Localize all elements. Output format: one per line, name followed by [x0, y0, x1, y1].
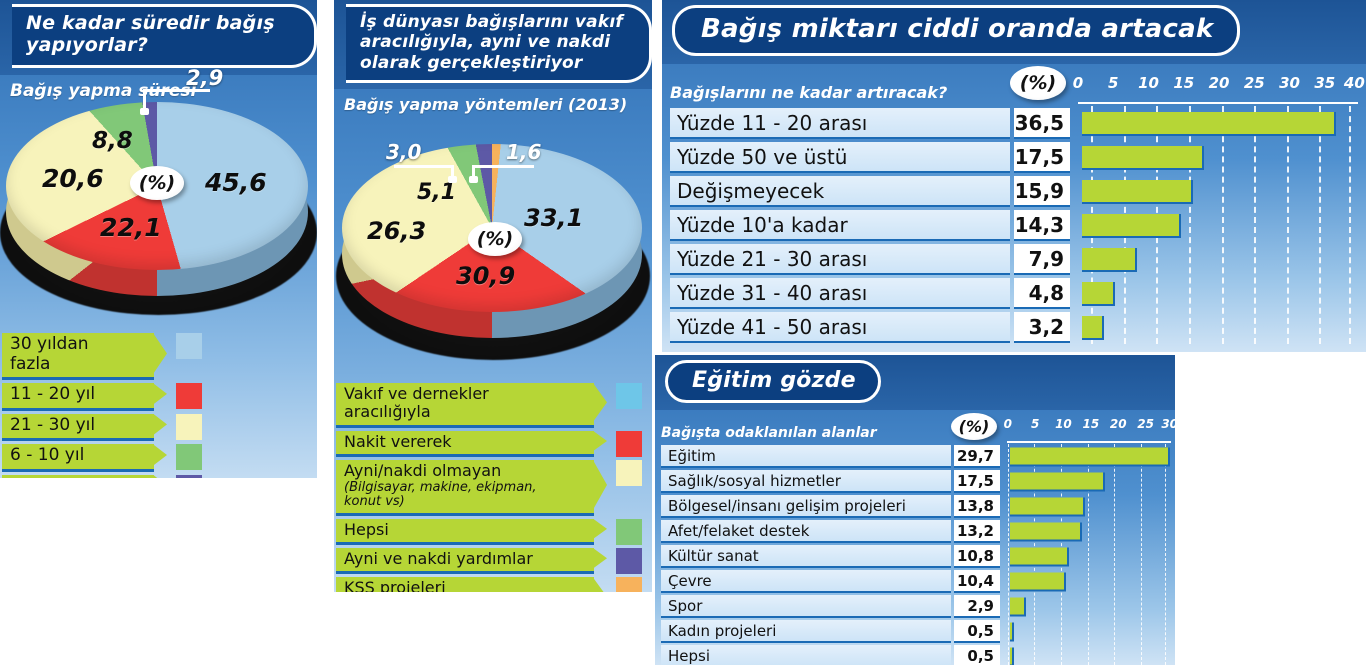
row-bar-cell: [1010, 495, 1173, 518]
row-label: Hepsi: [661, 645, 951, 665]
legend-label: KSS projeleri gerçekleştirerek: [336, 577, 594, 592]
row-label: Yüzde 21 - 30 arası: [670, 244, 1010, 275]
bar: [1082, 180, 1193, 204]
axis-tick: 30: [1161, 417, 1175, 431]
row-bar-cell: [1010, 445, 1173, 468]
panel4-title: Eğitim gözde: [665, 360, 881, 403]
bar: [1010, 597, 1026, 616]
pie1-label-0: 45,6: [205, 168, 267, 197]
pie1-label-3: 8,8: [92, 128, 133, 154]
row-label: Spor: [661, 595, 951, 618]
axis-tick: 10: [1055, 417, 1072, 431]
row-label: Çevre: [661, 570, 951, 593]
row-value: 36,5: [1014, 108, 1070, 139]
row-value: 17,5: [954, 470, 1000, 493]
row-label: Bölgesel/insanı gelişim projeleri: [661, 495, 951, 518]
row-bar-cell: [1010, 645, 1173, 665]
pie2-percent-badge: (%): [468, 222, 522, 256]
panel1-header-bar: Ne kadar süredir bağış yapıyorlar?: [0, 0, 317, 75]
legend-item[interactable]: 21 - 30 yıl: [2, 414, 317, 442]
legend-label: 11 - 20 yıl: [2, 383, 154, 411]
legend-item[interactable]: Nakit vererek: [336, 431, 652, 457]
panel-focus-areas: Eğitim gözde Bağışta odaklanılan alanlar…: [655, 355, 1175, 665]
table-row[interactable]: Eğitim 29,7: [661, 445, 1173, 468]
panel3-table-header: Bağışlarını ne kadar artıracak? (%) 0 5 …: [670, 66, 1360, 106]
table-row[interactable]: Çevre 10,4: [661, 570, 1173, 593]
panel4-table-header: Bağışta odaklanılan alanlar (%) 0 5 10 1…: [661, 412, 1173, 444]
legend-sublabel: (Bilgisayar, makine, ekipman, konut vs): [344, 481, 572, 510]
row-label: Kültür sanat: [661, 545, 951, 568]
legend-label: Ayni/nakdi olmayan: [344, 461, 501, 480]
legend-item[interactable]: 11 - 20 yıl: [2, 383, 317, 411]
axis-tick: 25: [1137, 417, 1154, 431]
panel2-header-bar: İş dünyası bağışlarını vakıf aracılığıyl…: [334, 0, 652, 89]
axis-tick: 0: [1004, 417, 1012, 431]
table-row[interactable]: Yüzde 31 - 40 arası 4,8: [670, 278, 1360, 309]
panel3-question-label: Bağışlarını ne kadar artıracak?: [670, 83, 1010, 106]
table-row[interactable]: Bölgesel/insanı gelişim projeleri 13,8: [661, 495, 1173, 518]
axis-tick: 35: [1314, 74, 1335, 92]
legend-label: 6 - 10 yıl: [2, 444, 154, 472]
legend-swatch: [176, 414, 202, 440]
legend-swatch: [616, 383, 642, 409]
axis-tick: 25: [1244, 74, 1265, 92]
legend-item[interactable]: 30 yıldan fazla: [2, 333, 317, 380]
pie1-leader-line-v: [143, 89, 146, 110]
row-bar-cell: [1010, 620, 1173, 643]
panel-donation-increase: Bağış miktarı ciddi oranda artacak Bağış…: [662, 0, 1366, 352]
row-value: 15,9: [1014, 176, 1070, 207]
row-value: 10,4: [954, 570, 1000, 593]
panel3-title: Bağış miktarı ciddi oranda artacak: [672, 5, 1240, 56]
row-value: 13,8: [954, 495, 1000, 518]
row-bar-cell: [1082, 312, 1360, 343]
axis-tick: 15: [1082, 417, 1099, 431]
pie1-leader-line-h: [143, 89, 210, 92]
axis-baseline: [1007, 441, 1171, 443]
panel4-axis: 0 5 10 15 20 25 30: [1007, 417, 1173, 444]
row-bar-cell: [1010, 520, 1173, 543]
row-label: Yüzde 31 - 40 arası: [670, 278, 1010, 309]
panel4-header-bar: Eğitim gözde: [655, 355, 1175, 410]
axis-tick: 0: [1073, 74, 1083, 92]
panel-donation-duration: Ne kadar süredir bağış yapıyorlar? Bağış…: [0, 0, 317, 478]
panel2-title: İş dünyası bağışlarını vakıf aracılığıyl…: [346, 4, 652, 83]
pie2-leader-5-dot: [469, 176, 478, 183]
bar: [1010, 622, 1014, 641]
legend-label: Hepsi: [336, 519, 594, 545]
infographic-root: Ne kadar süredir bağış yapıyorlar? Bağış…: [0, 0, 1366, 665]
axis-tick: 15: [1173, 74, 1194, 92]
table-row[interactable]: Spor 2,9: [661, 595, 1173, 618]
legend-label: 2 - 5 yıl: [2, 475, 154, 478]
legend-swatch: [616, 431, 642, 457]
pie2-leader-5-h: [472, 165, 534, 168]
bar: [1010, 472, 1105, 491]
panel4-percent-badge: (%): [951, 413, 997, 440]
row-bar-cell: [1010, 545, 1173, 568]
row-bar-cell: [1082, 210, 1360, 241]
pie2-leader-3-dot: [448, 176, 457, 183]
axis-tick: 20: [1110, 417, 1127, 431]
legend-swatch: [616, 548, 642, 574]
row-bar-cell: [1082, 142, 1360, 173]
row-label: Değişmeyecek: [670, 176, 1010, 207]
row-value: 2,9: [954, 595, 1000, 618]
bar: [1082, 248, 1137, 272]
pie1-label-4: 2,9: [186, 66, 223, 90]
bar: [1010, 572, 1066, 591]
axis-tick: 40: [1344, 74, 1365, 92]
pie2-label-0: 33,1: [524, 204, 583, 232]
row-bar-cell: [1010, 570, 1173, 593]
pie2-label-1: 30,9: [456, 262, 515, 290]
table-row[interactable]: Sağlık/sosyal hizmetler 17,5: [661, 470, 1173, 493]
table-row[interactable]: Değişmeyecek 15,9: [670, 176, 1360, 207]
legend-item[interactable]: Vakıf ve dernekler aracılığıyla: [336, 383, 652, 428]
row-label: Kadın projeleri: [661, 620, 951, 643]
table-row[interactable]: Yüzde 50 ve üstü 17,5: [670, 142, 1360, 173]
pie2-label-4: 3,0: [386, 140, 421, 164]
axis-tick: 5: [1108, 74, 1118, 92]
legend-label: 30 yıldan fazla: [2, 333, 154, 380]
legend-item[interactable]: Hepsi: [336, 519, 652, 545]
legend-swatch: [176, 444, 202, 470]
legend-swatch: [616, 577, 642, 592]
panel3-header-bar: Bağış miktarı ciddi oranda artacak: [662, 0, 1366, 64]
panel-donation-methods: İş dünyası bağışlarını vakıf aracılığıyl…: [334, 0, 652, 592]
axis-tick: 10: [1138, 74, 1159, 92]
legend-label: Vakıf ve dernekler aracılığıyla: [336, 383, 594, 428]
panel3-axis: 0 5 10 15 20 25 30 35 40: [1078, 72, 1360, 106]
row-bar-cell: [1082, 278, 1360, 309]
legend-swatch: [176, 383, 202, 409]
pie1-label-2: 20,6: [42, 164, 104, 193]
pie1-percent-badge: (%): [130, 166, 184, 200]
table-row[interactable]: Yüzde 10'a kadar 14,3: [670, 210, 1360, 241]
axis-tick: 20: [1209, 74, 1230, 92]
panel4-question-label: Bağışta odaklanılan alanlar: [661, 425, 951, 444]
axis-baseline: [1078, 102, 1358, 104]
pie2-label-3: 5,1: [417, 180, 456, 205]
legend-label-multiline: Ayni/nakdi olmayan (Bilgisayar, makine, …: [336, 460, 594, 515]
panel3-percent-badge: (%): [1010, 66, 1066, 100]
panel1-pie-chart: 45,6 22,1 20,6 8,8 2,9 (%): [0, 88, 317, 323]
bar: [1082, 282, 1115, 306]
panel2-subtitle: Bağış yapma yöntemleri (2013): [334, 89, 652, 116]
axis-tick: 30: [1279, 74, 1300, 92]
legend-item[interactable]: 2 - 5 yıl: [2, 475, 317, 478]
row-bar-cell: [1082, 108, 1360, 139]
panel1-title: Ne kadar süredir bağış yapıyorlar?: [12, 4, 317, 68]
legend-label: Ayni ve nakdi yardımlar: [336, 548, 594, 574]
row-value: 13,2: [954, 520, 1000, 543]
legend-item[interactable]: 6 - 10 yıl: [2, 444, 317, 472]
row-label: Sağlık/sosyal hizmetler: [661, 470, 951, 493]
row-value: 7,9: [1014, 244, 1070, 275]
row-label: Eğitim: [661, 445, 951, 468]
row-value: 0,5: [954, 645, 1000, 665]
table-row[interactable]: Kültür sanat 10,8: [661, 545, 1173, 568]
table-row[interactable]: Kadın projeleri 0,5: [661, 620, 1173, 643]
bar: [1010, 647, 1014, 665]
panel4-rows: Eğitim 29,7 Sağlık/sosyal hizmetler 17,5…: [661, 445, 1173, 665]
row-label: Yüzde 41 - 50 arası: [670, 312, 1010, 343]
bar: [1082, 214, 1181, 238]
panel2-pie-chart: 33,1 30,9 26,3 5,1 3,0 1,6 (%): [334, 132, 652, 372]
table-row[interactable]: Yüzde 41 - 50 arası 3,2: [670, 312, 1360, 343]
pie2-leader-3-h: [394, 165, 454, 168]
row-value: 29,7: [954, 445, 1000, 468]
bar: [1010, 547, 1069, 566]
legend-label: Nakit vererek: [336, 431, 594, 457]
table-row[interactable]: Yüzde 21 - 30 arası 7,9: [670, 244, 1360, 275]
legend-swatch: [176, 333, 202, 359]
legend-item[interactable]: KSS projeleri gerçekleştirerek: [336, 577, 652, 592]
axis-tick: 5: [1031, 417, 1039, 431]
legend-item[interactable]: Ayni/nakdi olmayan (Bilgisayar, makine, …: [336, 460, 652, 515]
table-row[interactable]: Hepsi 0,5: [661, 645, 1173, 665]
table-row[interactable]: Yüzde 11 - 20 arası 36,5: [670, 108, 1360, 139]
panel3-rows: Yüzde 11 - 20 arası 36,5 Yüzde 50 ve üst…: [670, 108, 1360, 346]
row-value: 17,5: [1014, 142, 1070, 173]
legend-swatch: [616, 519, 642, 545]
row-bar-cell: [1010, 595, 1173, 618]
pie1-leader-dot: [140, 108, 149, 115]
row-bar-cell: [1082, 176, 1360, 207]
row-label: Yüzde 50 ve üstü: [670, 142, 1010, 173]
row-value: 10,8: [954, 545, 1000, 568]
legend-swatch: [176, 475, 202, 478]
row-label: Yüzde 11 - 20 arası: [670, 108, 1010, 139]
panel1-legend: 30 yıldan fazla 11 - 20 yıl 21 - 30 yıl …: [0, 333, 317, 478]
bar: [1010, 447, 1170, 466]
panel2-legend: Vakıf ve dernekler aracılığıyla Nakit ve…: [334, 383, 652, 592]
row-value: 3,2: [1014, 312, 1070, 343]
table-row[interactable]: Afet/felaket destek 13,2: [661, 520, 1173, 543]
legend-label: 21 - 30 yıl: [2, 414, 154, 442]
row-value: 4,8: [1014, 278, 1070, 309]
bar: [1082, 112, 1336, 136]
row-value: 0,5: [954, 620, 1000, 643]
row-label: Yüzde 10'a kadar: [670, 210, 1010, 241]
bar: [1010, 522, 1082, 541]
pie2-label-2: 26,3: [367, 217, 426, 245]
bar: [1082, 146, 1204, 170]
row-label: Afet/felaket destek: [661, 520, 951, 543]
row-bar-cell: [1010, 470, 1173, 493]
row-value: 14,3: [1014, 210, 1070, 241]
legend-item[interactable]: Ayni ve nakdi yardımlar: [336, 548, 652, 574]
row-bar-cell: [1082, 244, 1360, 275]
bar: [1082, 316, 1104, 340]
pie1-label-1: 22,1: [100, 213, 162, 242]
bar: [1010, 497, 1085, 516]
pie2-label-5: 1,6: [506, 140, 541, 164]
legend-swatch: [616, 460, 642, 486]
